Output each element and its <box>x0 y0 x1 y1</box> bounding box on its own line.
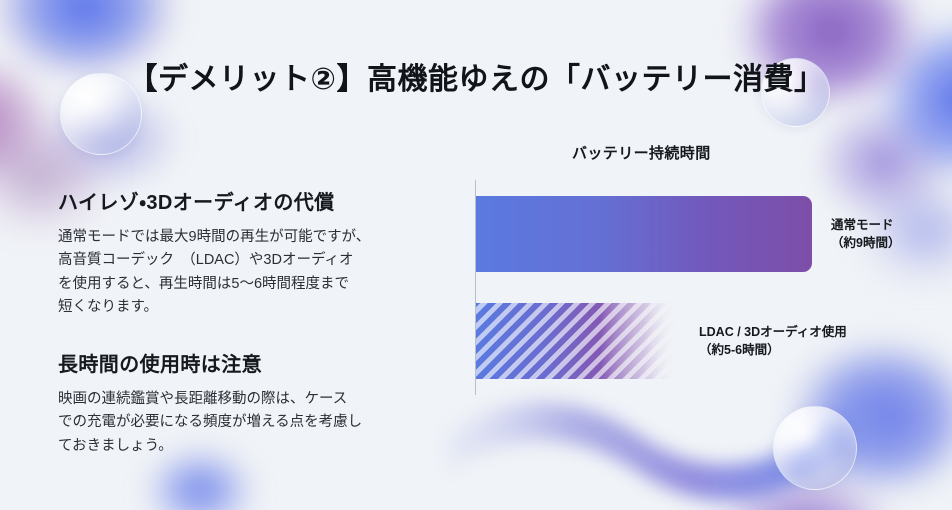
page-title: 【デメリット②】高機能ゆえの「バッテリー消費」 <box>0 54 952 98</box>
slide-canvas: 【デメリット②】高機能ゆえの「バッテリー消費」 ハイレゾ・3Dオーディオの代償 … <box>0 0 952 510</box>
chart-bar-row-ldac-3d-audio: LDAC / 3Dオーディオ使用 （約5-6時間） <box>476 303 847 379</box>
chart-bar-ldac-3d-audio <box>476 303 676 379</box>
section-long-use-caution: 長時間の使用時は注意 映画の連続鑑賞や長距離移動の際は、ケース での充電が必要に… <box>58 348 448 458</box>
section-hires-3d-audio: ハイレゾ・3Dオーディオの代償 通常モードでは最大9時間の再生が可能ですが、 高… <box>58 186 448 320</box>
chart-bar-label-ldac-3d-audio: LDAC / 3Dオーディオ使用 （約5-6時間） <box>699 323 847 359</box>
battery-duration-chart: バッテリー持続時間 通常モード （約9時間） LDAC / 3Dオーディオ使用 … <box>462 142 938 412</box>
section-heading-1: ハイレゾ・3Dオーディオの代償 <box>58 186 448 215</box>
chart-title: バッテリー持続時間 <box>572 142 711 163</box>
left-text-column: ハイレゾ・3Dオーディオの代償 通常モードでは最大9時間の再生が可能ですが、 高… <box>58 186 448 458</box>
glass-bubble-bottom-right <box>773 406 857 490</box>
chart-bar-row-normal-mode: 通常モード （約9時間） <box>476 196 900 272</box>
chart-bar-normal-mode <box>476 196 812 272</box>
chart-bar-label-normal-mode: 通常モード （約9時間） <box>831 216 900 252</box>
section-body-1: 通常モードでは最大9時間の再生が可能ですが、 高音質コーデック （LDAC）や3… <box>58 226 448 320</box>
background-blob-top-left <box>0 0 210 205</box>
section-heading-2: 長時間の使用時は注意 <box>58 348 448 377</box>
section-body-2: 映画の連続鑑賞や長距離移動の際は、ケース での充電が必要になる頻度が増える点を考… <box>58 388 448 458</box>
